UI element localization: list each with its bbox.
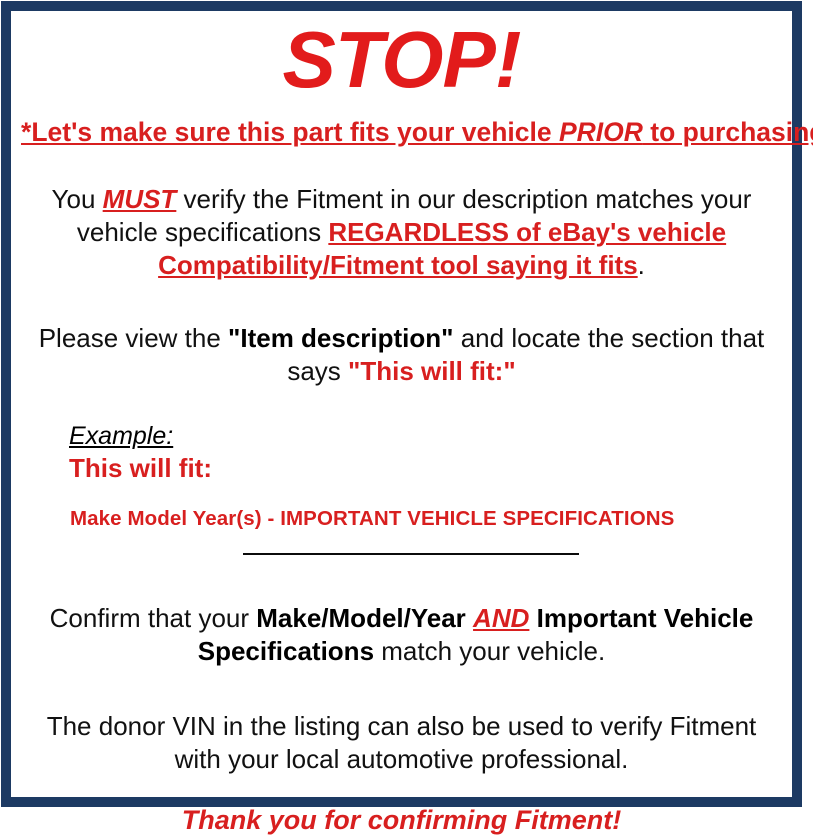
paragraph-must-verify: You MUST verify the Fitment in our descr… xyxy=(21,183,782,282)
subtitle-emphasis-prior: PRIOR xyxy=(559,117,643,147)
example-spec-line: Make Model Year(s) - IMPORTANT VEHICLE S… xyxy=(69,506,782,531)
fitment-notice-card: STOP! *Let's make sure this part fits yo… xyxy=(1,1,802,807)
subtitle-lead-text: *Let's make sure this part fits your veh… xyxy=(21,117,559,147)
section-divider xyxy=(243,553,579,555)
emphasis-and: AND xyxy=(473,603,529,633)
example-label-row: Example: xyxy=(69,422,782,451)
paragraph-donor-vin: The donor VIN in the listing can also be… xyxy=(21,710,782,776)
confirm-space-1 xyxy=(466,603,473,633)
confirm-space-2 xyxy=(529,603,536,633)
bold-make-model-year: Make/Model/Year xyxy=(256,603,466,633)
example-block: Example: This will fit: Make Model Year(… xyxy=(21,422,782,531)
divider-wrap xyxy=(21,553,782,567)
notice-content: STOP! *Let's make sure this part fits yo… xyxy=(11,11,792,797)
must-text-part-1: You xyxy=(52,184,103,214)
confirm-text-part-1: Confirm that your xyxy=(50,603,257,633)
subtitle-trail-text: to purchasing* xyxy=(643,117,813,147)
bold-item-description: "Item description" xyxy=(228,323,453,353)
paragraph-confirm: Confirm that your Make/Model/Year AND Im… xyxy=(21,602,782,668)
closing-thanks-line: Thank you for confirming Fitment! xyxy=(21,804,782,836)
emphasis-must: MUST xyxy=(103,184,177,214)
must-text-part-3: . xyxy=(638,250,645,280)
confirm-text-part-2: match your vehicle. xyxy=(374,636,605,666)
subtitle-banner: *Let's make sure this part fits your veh… xyxy=(21,117,782,147)
example-fit-header: This will fit: xyxy=(69,453,782,484)
example-label: Example: xyxy=(69,422,173,451)
paragraph-item-description: Please view the "Item description" and l… xyxy=(21,322,782,388)
red-quote-this-will-fit: "This will fit:" xyxy=(348,356,516,386)
itemdesc-text-part-1: Please view the xyxy=(39,323,228,353)
page-title: STOP! xyxy=(21,11,782,103)
